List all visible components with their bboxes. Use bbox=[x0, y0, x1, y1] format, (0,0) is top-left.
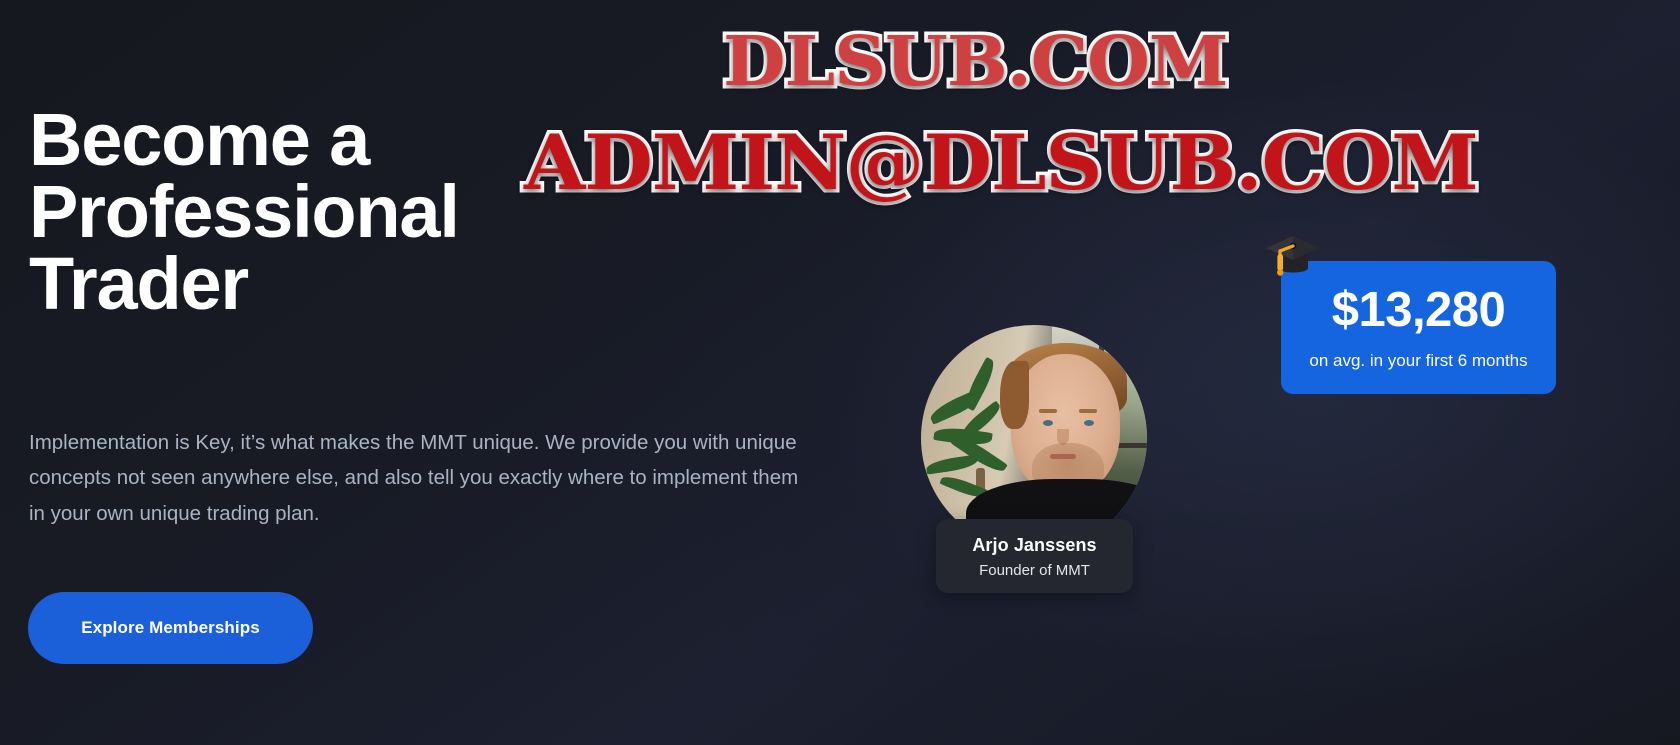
portrait-eye-left bbox=[1043, 420, 1053, 426]
founder-name: Arjo Janssens bbox=[946, 533, 1123, 557]
portrait-eyebrow-left bbox=[1039, 409, 1057, 413]
founder-name-card: Arjo Janssens Founder of MMT bbox=[936, 519, 1133, 593]
plant-leaf bbox=[925, 455, 978, 475]
watermark-site: DLSUB.COM bbox=[723, 22, 1228, 102]
explore-memberships-button[interactable]: Explore Memberships bbox=[28, 592, 313, 664]
founder-role: Founder of MMT bbox=[946, 562, 1123, 579]
hero-section: Become a Professional Trader Implementat… bbox=[0, 0, 1680, 745]
hero-text-block: Become a Professional Trader bbox=[29, 104, 829, 319]
portrait-mouth bbox=[1050, 454, 1076, 459]
founder-portrait bbox=[921, 325, 1147, 551]
stat-caption: on avg. in your first 6 months bbox=[1301, 350, 1536, 371]
page-title: Become a Professional Trader bbox=[29, 104, 629, 319]
hero-subtitle: Implementation is Key, it’s what makes t… bbox=[29, 425, 799, 531]
portrait-hair-side bbox=[1000, 361, 1029, 429]
earnings-stat-card: $13,280 on avg. in your first 6 months bbox=[1281, 261, 1556, 394]
portrait-eye-right bbox=[1084, 420, 1094, 426]
avatar bbox=[921, 325, 1147, 551]
portrait-eyebrow-right bbox=[1079, 409, 1097, 413]
stat-amount: $13,280 bbox=[1301, 285, 1536, 336]
